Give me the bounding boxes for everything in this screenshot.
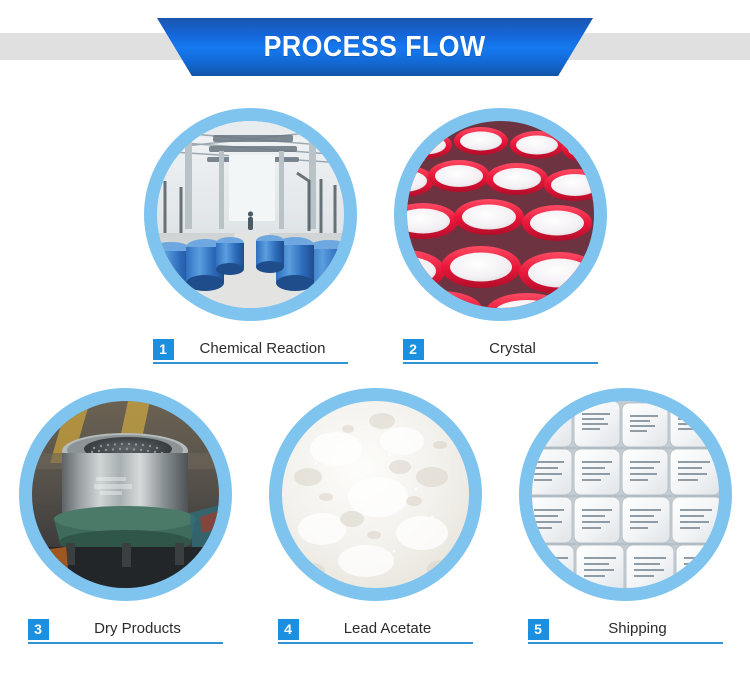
ribbon-banner: PROCESS FLOW <box>157 18 593 76</box>
step-4-caption: 4 Lead Acetate <box>278 617 473 641</box>
white-crystalline-powder-photo <box>282 401 469 588</box>
step-5-underline <box>528 642 723 644</box>
step-3-number: 3 <box>28 619 49 640</box>
page-banner: PROCESS FLOW <box>0 0 750 92</box>
step-2-caption: 2 Crystal <box>403 337 598 361</box>
process-step-4: 4 Lead Acetate <box>269 388 482 641</box>
step-2-photo-frame <box>394 108 607 321</box>
step-1-photo-frame <box>144 108 357 321</box>
step-4-number: 4 <box>278 619 299 640</box>
process-row-top: 1 Chemical Reaction <box>0 108 750 361</box>
step-4-photo-frame <box>269 388 482 601</box>
step-3-label: Dry Products <box>49 620 223 639</box>
step-4-label: Lead Acetate <box>299 620 473 639</box>
step-1-caption: 1 Chemical Reaction <box>153 337 348 361</box>
step-5-caption: 5 Shipping <box>528 617 723 641</box>
stacked-white-packaging-bags-photo <box>532 401 719 588</box>
process-step-1: 1 Chemical Reaction <box>144 108 357 361</box>
step-1-underline <box>153 362 348 364</box>
step-3-underline <box>28 642 223 644</box>
step-5-number: 5 <box>528 619 549 640</box>
step-5-photo-frame <box>519 388 732 601</box>
step-4-underline <box>278 642 473 644</box>
stainless-steel-centrifuge-dryer-photo <box>32 401 219 588</box>
step-2-number: 2 <box>403 339 424 360</box>
factory-blue-reactor-vessels-photo <box>157 121 344 308</box>
step-3-photo-frame <box>19 388 232 601</box>
process-row-bottom: 3 Dry Products <box>0 388 750 641</box>
process-step-2: 2 Crystal <box>394 108 607 361</box>
red-drums-white-crystal-photo <box>407 121 594 308</box>
step-2-underline <box>403 362 598 364</box>
step-1-label: Chemical Reaction <box>174 340 348 359</box>
page-title: PROCESS FLOW <box>264 31 486 64</box>
step-5-label: Shipping <box>549 620 723 639</box>
process-step-5: 5 Shipping <box>519 388 732 641</box>
step-2-label: Crystal <box>424 340 598 359</box>
step-3-caption: 3 Dry Products <box>28 617 223 641</box>
step-1-number: 1 <box>153 339 174 360</box>
process-step-3: 3 Dry Products <box>19 388 232 641</box>
